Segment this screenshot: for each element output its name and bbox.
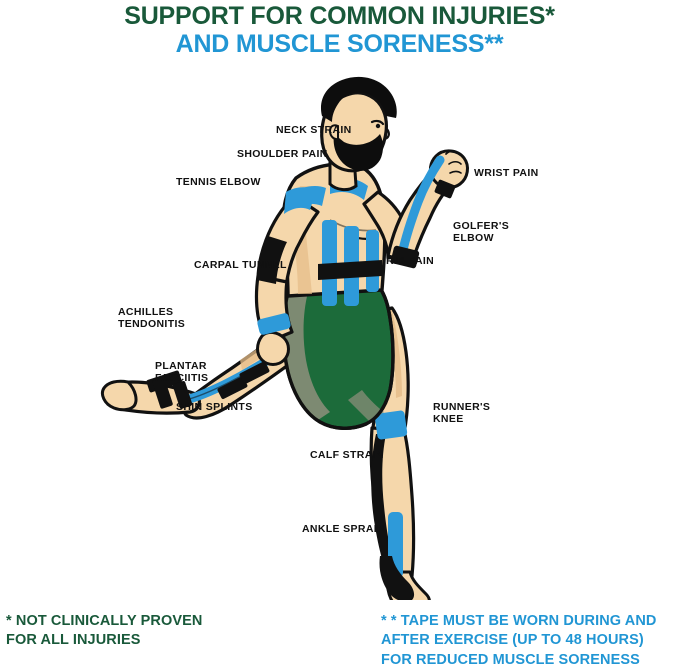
runner-illustration: [0, 60, 679, 600]
label-rib-pain: RIB PAIN: [386, 255, 434, 267]
footnote-disclaimer-secondary: * * TAPE MUST BE WORN DURING AND AFTER E…: [381, 612, 656, 665]
infographic-page: SUPPORT FOR COMMON INJURIES* AND MUSCLE …: [0, 0, 679, 665]
label-plantar-fasciitis: PLANTAR FASCIITIS: [155, 360, 208, 384]
runner-figure-svg: [0, 60, 679, 600]
label-achilles-tendonitis: ACHILLES TENDONITIS: [118, 306, 185, 330]
page-title: SUPPORT FOR COMMON INJURIES* AND MUSCLE …: [0, 2, 679, 58]
label-ankle-sprain: ANKLE SPRAIN: [302, 523, 385, 535]
label-shin-splints: SHIN SPLINTS: [176, 401, 253, 413]
label-carpal-tunnel: CARPAL TUNNEL: [194, 259, 287, 271]
shorts-group: [284, 288, 394, 428]
label-tennis-elbow: TENNIS ELBOW: [176, 176, 261, 188]
label-golfers-elbow: GOLFER'S ELBOW: [453, 220, 509, 244]
label-wrist-pain: WRIST PAIN: [474, 167, 539, 179]
label-calf-strain: CALF STRAIN: [310, 449, 384, 461]
title-line-primary: SUPPORT FOR COMMON INJURIES*: [0, 2, 679, 30]
label-neck-strain: NECK STRAIN: [276, 124, 352, 136]
title-line-secondary: AND MUSCLE SORENESS**: [0, 30, 679, 58]
footnote-disclaimer-primary: * NOT CLINICALLY PROVEN FOR ALL INJURIES: [6, 612, 202, 651]
label-shoulder-pain: SHOULDER PAIN: [237, 148, 328, 160]
label-runners-knee: RUNNER'S KNEE: [433, 401, 490, 425]
